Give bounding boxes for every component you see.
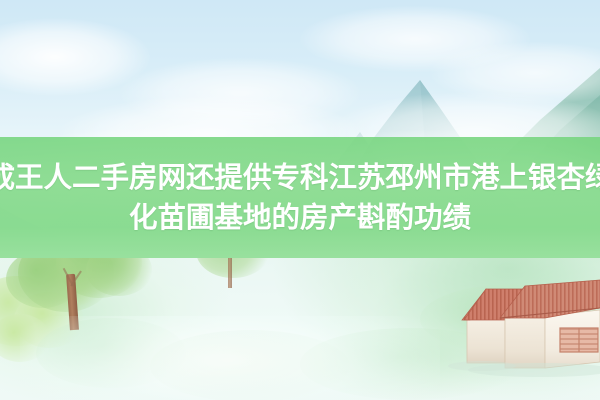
- article-banner-image: 成王人二手房网还提供专科江苏邳州市港上银杏绿 化苗圃基地的房产斟酌功绩: [0, 0, 600, 400]
- banner-title-line-1: 成王人二手房网还提供专科江苏邳州市港上银杏绿: [0, 158, 600, 197]
- mist-overlay: [20, 316, 440, 400]
- ground-scene: [0, 258, 600, 400]
- banner-title-line-2: 化苗圃基地的房产斟酌功绩: [129, 198, 471, 237]
- title-band: 成王人二手房网还提供专科江苏邳州市港上银杏绿 化苗圃基地的房产斟酌功绩: [0, 137, 600, 258]
